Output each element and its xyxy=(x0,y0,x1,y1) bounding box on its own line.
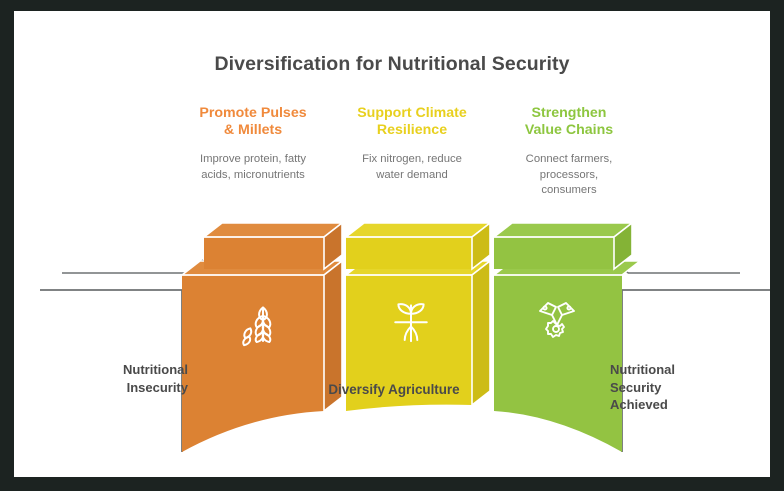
pier-label-right-line1: Nutritional xyxy=(610,361,740,379)
orange-upper-top xyxy=(204,223,342,237)
orange-upper-front xyxy=(204,237,324,269)
green-upper-top xyxy=(494,223,632,237)
infographic-card: Diversification for Nutritional Security… xyxy=(14,11,770,477)
pier-label-left: Nutritional Insecurity xyxy=(72,361,188,396)
orange-lower-front xyxy=(182,275,324,452)
pier-label-left-line2: Insecurity xyxy=(72,379,188,397)
yellow-upper-front xyxy=(346,237,472,269)
bridge-segment-green xyxy=(494,223,640,452)
image-frame: Diversification for Nutritional Security… xyxy=(0,0,784,491)
green-upper-front xyxy=(494,237,614,269)
pier-label-left-line1: Nutritional xyxy=(72,361,188,379)
yellow-upper-top xyxy=(346,223,490,237)
pier-label-right-line3: Achieved xyxy=(610,396,740,414)
pier-label-right-line2: Security xyxy=(610,379,740,397)
bridge-center-label: Diversify Agriculture xyxy=(244,382,544,397)
pier-label-right: Nutritional Security Achieved xyxy=(610,361,740,414)
green-lower-front xyxy=(494,275,622,452)
